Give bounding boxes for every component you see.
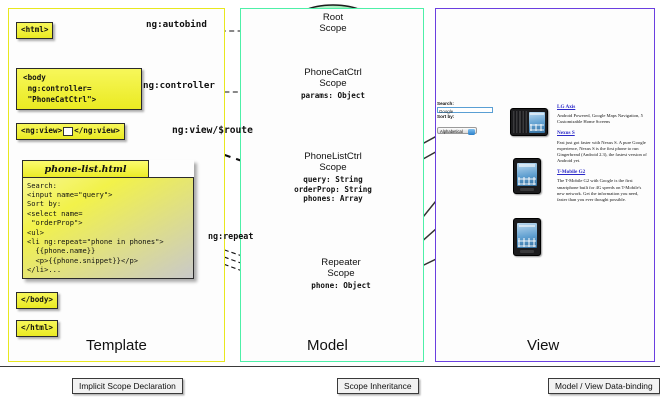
note-code: Search: <input name="query"> Sort by: <s… bbox=[22, 177, 194, 279]
phone-name-link[interactable]: Nexus S bbox=[557, 130, 649, 137]
phone-description: Fast just got faster with Nexus S. A pur… bbox=[557, 140, 649, 164]
edge-label-ng-repeat: ng:repeat bbox=[208, 231, 253, 241]
tag-ngview-open: <ng:view> bbox=[21, 126, 62, 135]
panel-label-view: View bbox=[527, 337, 559, 354]
edge-label-ng-view-route: ng:view/$route bbox=[172, 125, 253, 136]
note-title: phone-list.html bbox=[22, 160, 149, 177]
list-item[interactable]: T-Mobile G2 The T-Mobile G2 with Google … bbox=[557, 169, 649, 203]
phone-list: LG Axis Android Powered, Google Maps Nav… bbox=[557, 104, 649, 208]
tag-body-line3: "PhoneCatCtrl"> bbox=[23, 95, 96, 104]
panel-label-template: Template bbox=[86, 337, 147, 354]
panel-label-model: Model bbox=[307, 337, 348, 354]
tag-body-line1: <body bbox=[23, 73, 46, 82]
view-search-form: Search: Google Sort by: Alphabetical bbox=[437, 101, 497, 138]
tag-body-line2: ng:controller= bbox=[23, 84, 92, 93]
phone-name-link[interactable]: LG Axis bbox=[557, 104, 649, 111]
legend-item-model-view-data-binding: Model / View Data-binding bbox=[548, 378, 660, 394]
diagram-stage: Template Model View <html> <body ng:cont… bbox=[0, 0, 660, 405]
tag-ngview: <ng:view></ng:view> bbox=[16, 123, 125, 140]
tag-body-open: <body ng:controller= "PhoneCatCtrl"> bbox=[16, 68, 142, 110]
sort-select[interactable]: Alphabetical bbox=[437, 127, 477, 134]
phone-description: Android Powered, Google Maps Navigation,… bbox=[557, 113, 649, 125]
ngview-placeholder-icon bbox=[63, 127, 73, 136]
list-item[interactable]: Nexus S Fast just got faster with Nexus … bbox=[557, 130, 649, 164]
phone-name-link[interactable]: T-Mobile G2 bbox=[557, 169, 649, 176]
tag-ngview-close: </ng:view> bbox=[74, 126, 120, 135]
search-input[interactable]: Google bbox=[437, 107, 493, 113]
tag-body-close: </body> bbox=[16, 292, 58, 309]
edge-label-ng-controller: ng:controller bbox=[143, 80, 215, 91]
legend-item-implicit-scope-declaration: Implicit Scope Declaration bbox=[72, 378, 183, 394]
sort-label: Sort by: bbox=[437, 114, 497, 120]
phone-thumb-lg-axis bbox=[510, 108, 548, 136]
phone-thumb-tmobile-g2 bbox=[513, 218, 541, 256]
phone-description: The T-Mobile G2 with Google is the first… bbox=[557, 178, 649, 202]
edge-label-ng-autobind: ng:autobind bbox=[146, 19, 207, 30]
note-phone-list-html: phone-list.html Search: <input name="que… bbox=[22, 160, 194, 279]
legend: Implicit Scope Declaration Scope Inherit… bbox=[0, 368, 660, 405]
legend-item-scope-inheritance: Scope Inheritance bbox=[337, 378, 419, 394]
list-item[interactable]: LG Axis Android Powered, Google Maps Nav… bbox=[557, 104, 649, 125]
search-label: Search: bbox=[437, 101, 497, 107]
tag-html-open: <html> bbox=[16, 22, 53, 39]
tag-html-close: </html> bbox=[16, 320, 58, 337]
panel-model bbox=[240, 8, 424, 362]
phone-thumb-nexus-s bbox=[513, 158, 541, 194]
